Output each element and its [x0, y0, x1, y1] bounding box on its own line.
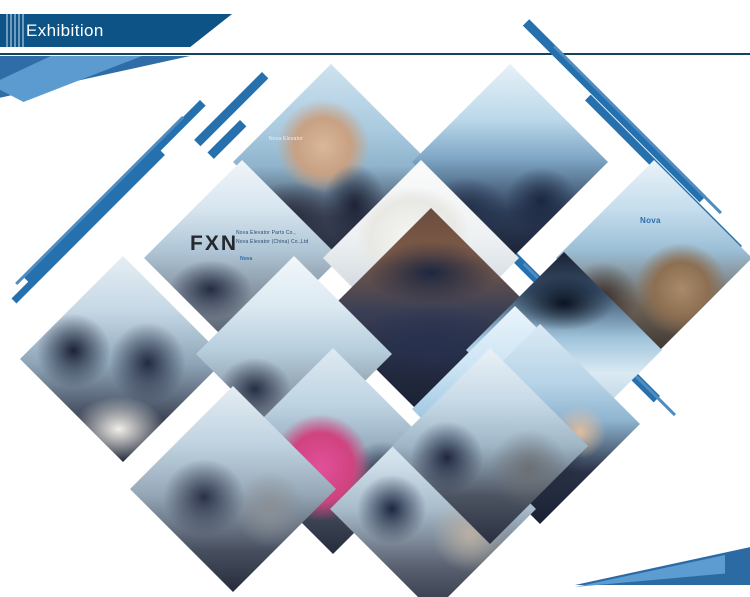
page-title: Exhibition [26, 14, 104, 47]
nova-brand-mark-right: Nova [640, 216, 661, 225]
photo-mosaic: Nova Elevator Nova FXN Nova Elevator Par… [0, 56, 750, 597]
booth-company-line-2: Nova Elevator (China) Co.,Ltd [236, 239, 309, 246]
fxn-logo: FXN [190, 232, 238, 256]
page-header: Exhibition [0, 0, 750, 56]
booth-company-line-1: Nova Elevator Parts Co., [236, 230, 296, 237]
booth-banner-text-1: Nova Elevator [269, 136, 303, 143]
header-divider [0, 53, 750, 55]
exhibition-page: Exhibition Nova Elevator Nova [0, 0, 750, 597]
nova-brand-mark-small: Nova [240, 256, 252, 262]
